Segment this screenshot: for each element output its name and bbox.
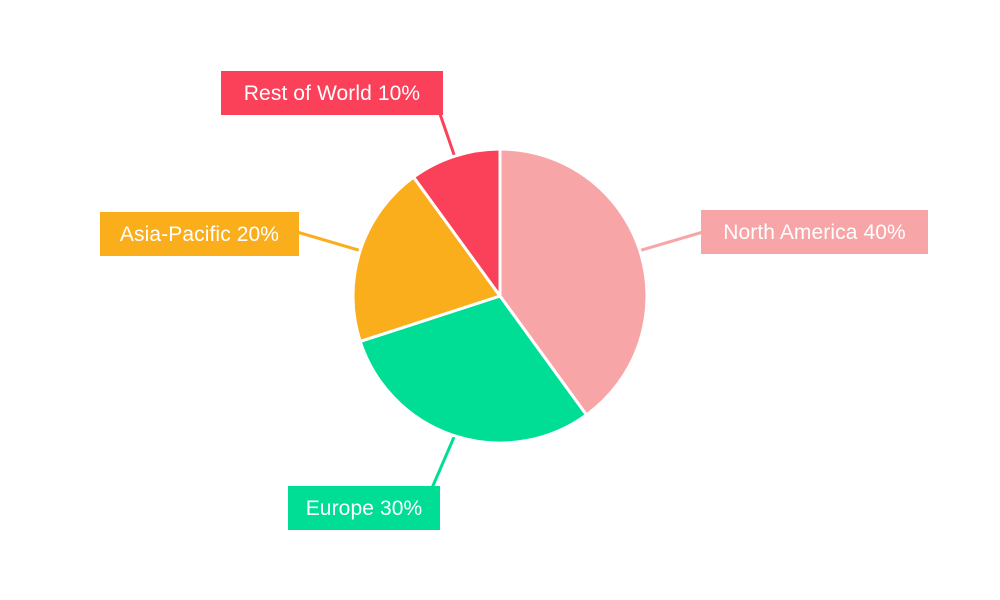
leader-line-europe xyxy=(432,436,455,488)
leader-line-asia-pacific xyxy=(297,232,360,251)
pie-label-north-america-text: North America 40% xyxy=(723,222,906,243)
leader-line-north-america xyxy=(640,232,703,251)
pie-slices xyxy=(353,149,647,443)
pie-chart-figure: North America 40% Europe 30% Asia-Pacifi… xyxy=(0,0,1000,600)
pie-label-europe-text: Europe 30% xyxy=(306,498,423,519)
pie-label-asia-pacific: Asia-Pacific 20% xyxy=(100,212,299,256)
pie-label-rest-of-world: Rest of World 10% xyxy=(221,71,443,115)
pie-label-europe: Europe 30% xyxy=(288,486,440,530)
leader-line-rest-of-world xyxy=(440,114,455,156)
pie-label-asia-pacific-text: Asia-Pacific 20% xyxy=(120,224,279,245)
pie-chart-canvas xyxy=(0,0,1000,600)
pie-label-north-america: North America 40% xyxy=(701,210,928,254)
pie-label-rest-of-world-text: Rest of World 10% xyxy=(244,83,420,104)
